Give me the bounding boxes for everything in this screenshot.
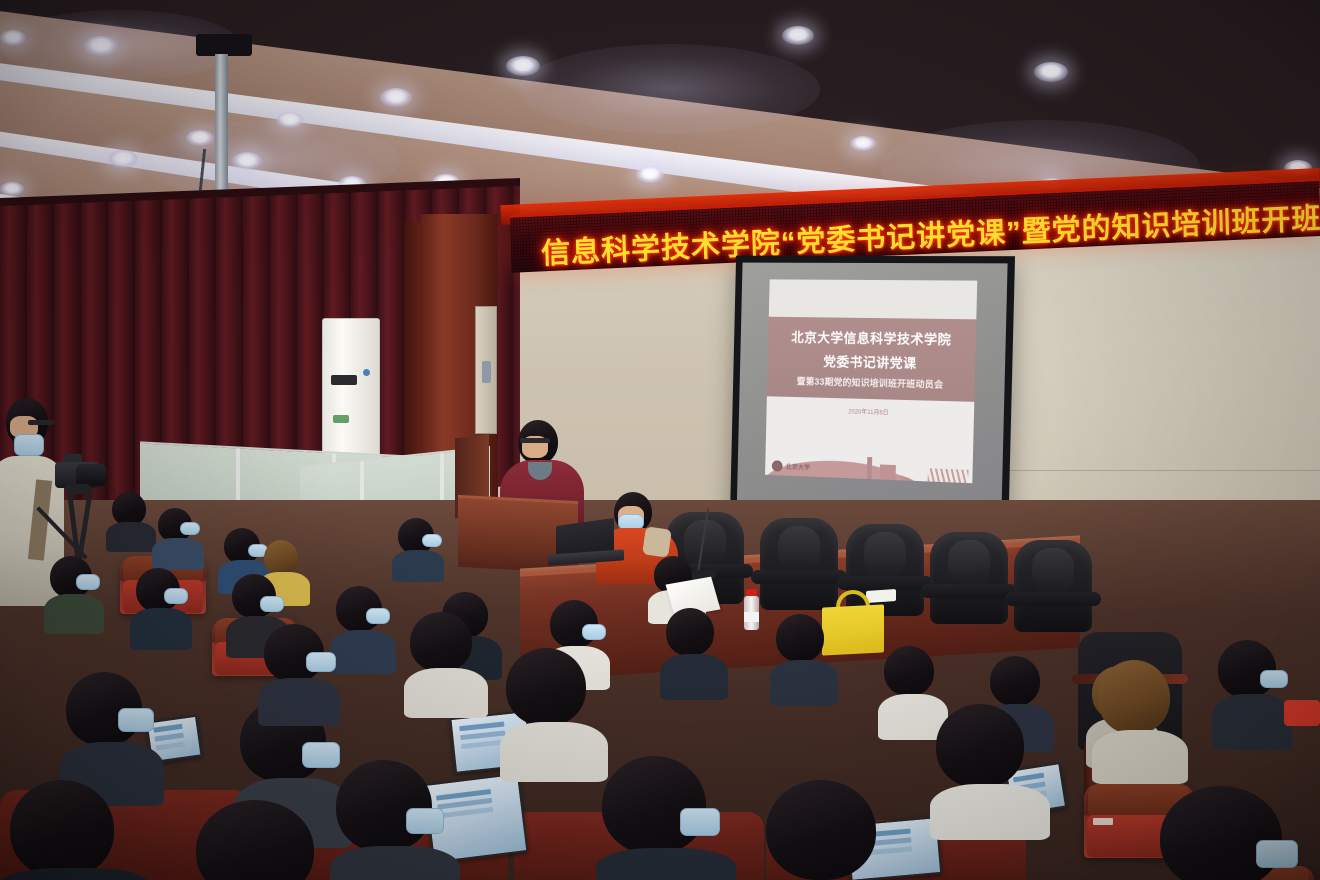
audience-member (152, 508, 204, 560)
projector-ceiling-plate (196, 34, 252, 56)
ceiling-downlight (850, 136, 876, 151)
audience-member (392, 518, 444, 570)
executive-chair[interactable] (930, 532, 1008, 624)
audience-member (500, 648, 608, 768)
face-mask-icon (366, 608, 390, 624)
audience-member (404, 612, 488, 708)
ceiling-downlight (108, 150, 138, 168)
slide-footer: 2020年11月6日 北京大学 (765, 397, 973, 483)
audience-member (660, 608, 728, 682)
university-name: 北京大学 (786, 462, 811, 472)
ceiling-downlight (186, 130, 214, 146)
face-mask-icon (164, 588, 188, 604)
auditorium-photo-scene: 信息科学技术学院“党委书记讲党课”暨党的知识培训班开班动员会 北京大学信息科学技… (0, 0, 1320, 880)
face-mask-icon (306, 652, 336, 672)
ac-display (331, 375, 357, 385)
red-item (1284, 700, 1320, 726)
face-mask-icon (118, 708, 154, 732)
ceiling-downlight (0, 30, 26, 46)
face-mask-icon (422, 534, 442, 547)
executive-chair[interactable] (1014, 540, 1092, 632)
ac-logo (333, 415, 349, 423)
ceiling-downlight (506, 56, 540, 76)
camera-lens-icon (76, 464, 106, 486)
audience-member (930, 704, 1050, 824)
bottle-label (744, 612, 759, 622)
slide-line-1: 北京大学信息科学技术学院 (791, 327, 952, 349)
slide-line-2: 党委书记讲党课 (823, 351, 917, 372)
audience-member (596, 756, 736, 880)
ceiling-downlight (276, 112, 304, 128)
audience-member (1150, 786, 1320, 880)
face-mask-icon (76, 574, 100, 590)
ceiling-downlight (636, 166, 664, 183)
audience-member (770, 614, 838, 688)
slide-date: 2020年11月6日 (767, 404, 974, 419)
executive-chair[interactable] (760, 518, 838, 610)
wall-speaker-icon (475, 306, 497, 434)
audience-member (130, 568, 192, 634)
scarf (642, 526, 672, 557)
ceiling-downlight (232, 152, 262, 170)
slide-line-3: 暨第33期党的知识培训班开班动员会 (797, 374, 944, 391)
ceiling-downlight (1034, 62, 1068, 82)
presentation-slide: 北京大学信息科学技术学院 党委书记讲党课 暨第33期党的知识培训班开班动员会 2… (765, 280, 976, 483)
slide-title-band: 北京大学信息科学技术学院 党委书记讲党课 暨第33期党的知识培训班开班动员会 (767, 317, 975, 402)
glasses-icon (28, 420, 54, 425)
tripod-head (66, 484, 90, 494)
face-mask-icon (680, 808, 720, 836)
projection-screen: 北京大学信息科学技术学院 党委书记讲党课 暨第33期党的知识培训班开班动员会 2… (730, 256, 1015, 525)
air-conditioner-icon (322, 318, 380, 458)
audience-member (60, 672, 164, 792)
face-mask-icon (14, 434, 44, 456)
audience-member (1212, 640, 1292, 732)
audience-member (760, 780, 910, 880)
ceiling-downlight (84, 36, 118, 56)
university-seal-icon (772, 460, 783, 471)
face-mask-icon (180, 522, 200, 535)
audience-member (0, 780, 150, 880)
audience-member (1092, 660, 1188, 770)
ac-indicator (363, 369, 370, 376)
glasses-icon (520, 438, 550, 443)
audience-member (106, 492, 156, 540)
face-mask-icon (582, 624, 606, 640)
ceiling-downlight (380, 88, 412, 107)
seat-number-plate (1093, 818, 1113, 825)
face-mask-icon (1260, 670, 1288, 688)
university-logo: 北京大学 (772, 460, 810, 472)
face-mask-icon (1256, 840, 1298, 868)
ceiling-downlight (0, 182, 24, 196)
face-mask-icon (406, 808, 444, 834)
audience-member (44, 556, 104, 620)
face-mask-icon (260, 596, 284, 612)
audience-member (330, 760, 460, 880)
wall-seam (1010, 470, 1320, 471)
audience-member (258, 624, 340, 716)
ceiling-downlight (782, 26, 814, 45)
napkin (866, 589, 896, 603)
